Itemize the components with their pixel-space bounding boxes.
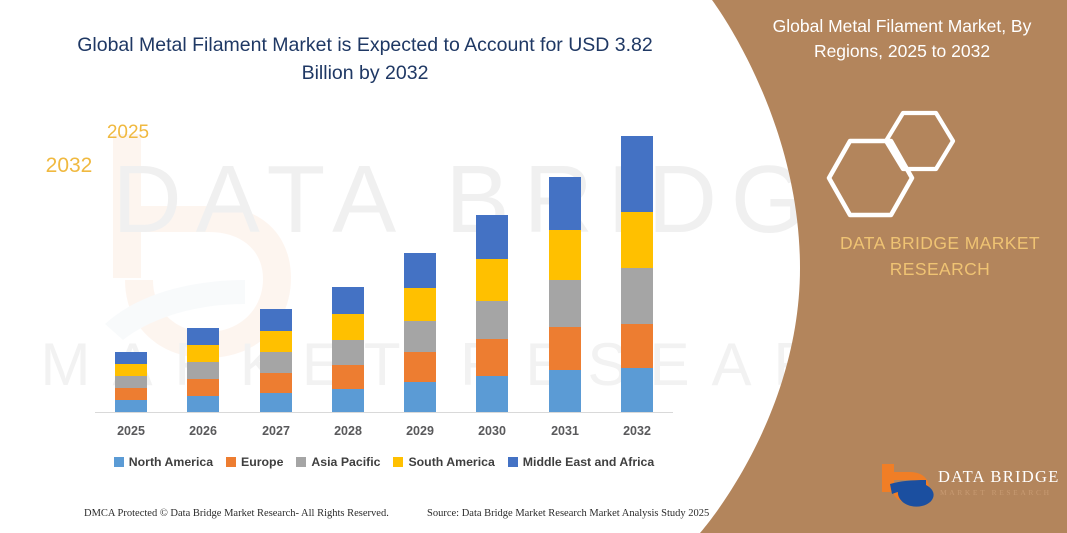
hex-badge-2032: 2032 [24,154,114,178]
hex-badge-2025: 2025 [88,122,168,144]
logo-subtitle: MARKET RESEARCH [940,488,1052,497]
brand-name: DATA BRIDGE MARKET RESEARCH [790,230,1067,283]
panel-title: Global Metal Filament Market, By Regions… [752,14,1052,65]
logo-wordmark: DATA BRIDGE [938,467,1060,487]
hexagon-badges [820,100,1000,220]
infographic-canvas: DATA BRIDGE MARKET RESEARCH Global Metal… [0,0,1067,533]
